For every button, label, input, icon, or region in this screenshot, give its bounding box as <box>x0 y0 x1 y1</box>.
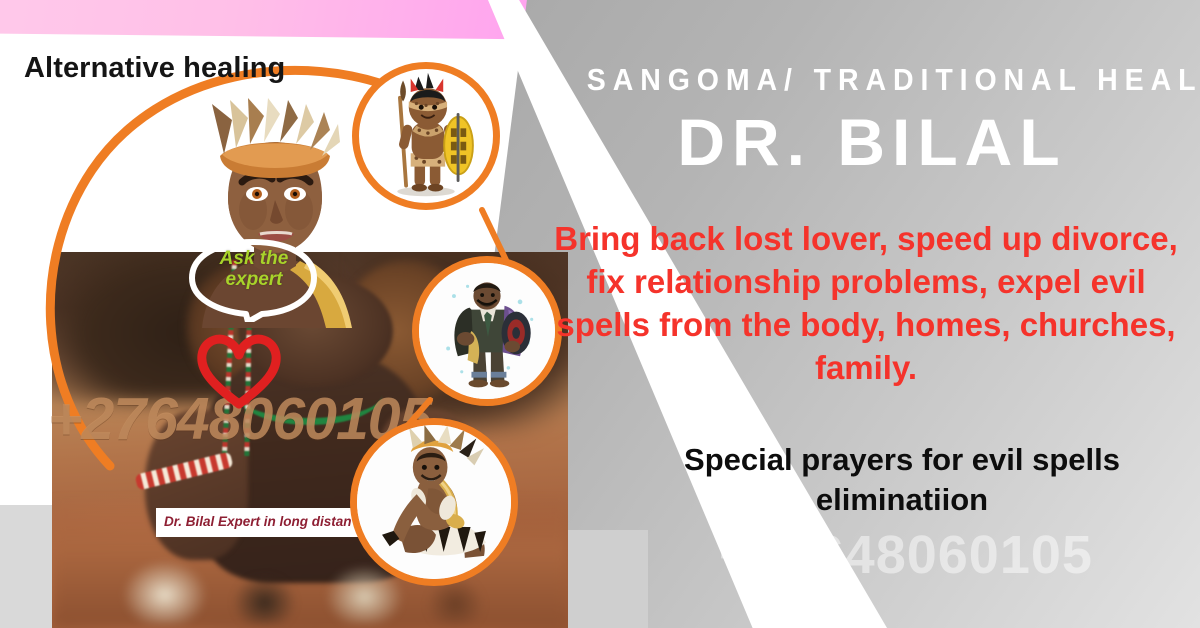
services-description: Bring back lost lover, speed up divorce,… <box>540 218 1192 390</box>
grey-left-band <box>0 505 54 628</box>
poster-canvas: +27648060105 Ask the expert Dr. Bilal Ex… <box>0 0 1200 628</box>
doctor-name-heading: DR. BILAL <box>562 104 1182 180</box>
bubble-crouching-dancer[interactable] <box>350 418 518 586</box>
photo-caption-text: Dr. Bilal Expert in long distan casting … <box>156 508 378 537</box>
page-title-alternative-healing: Alternative healing <box>24 52 285 85</box>
speech-bubble-text: Ask the expert <box>196 248 312 291</box>
crouching-dancer-icon <box>357 425 511 579</box>
bubble-zulu-warrior[interactable] <box>352 62 500 210</box>
phone-number-watermark: +27648060105 <box>612 524 1200 586</box>
special-offer-text: Special prayers for evil spells eliminat… <box>612 440 1192 521</box>
kicker-sangoma-traditional-healer: SANGOMA/ TRADITIONAL HEALER <box>587 62 1157 98</box>
heart-doodle-icon <box>196 330 282 410</box>
zulu-warrior-icon <box>359 69 493 203</box>
traditional-man-coat-icon <box>419 263 555 399</box>
